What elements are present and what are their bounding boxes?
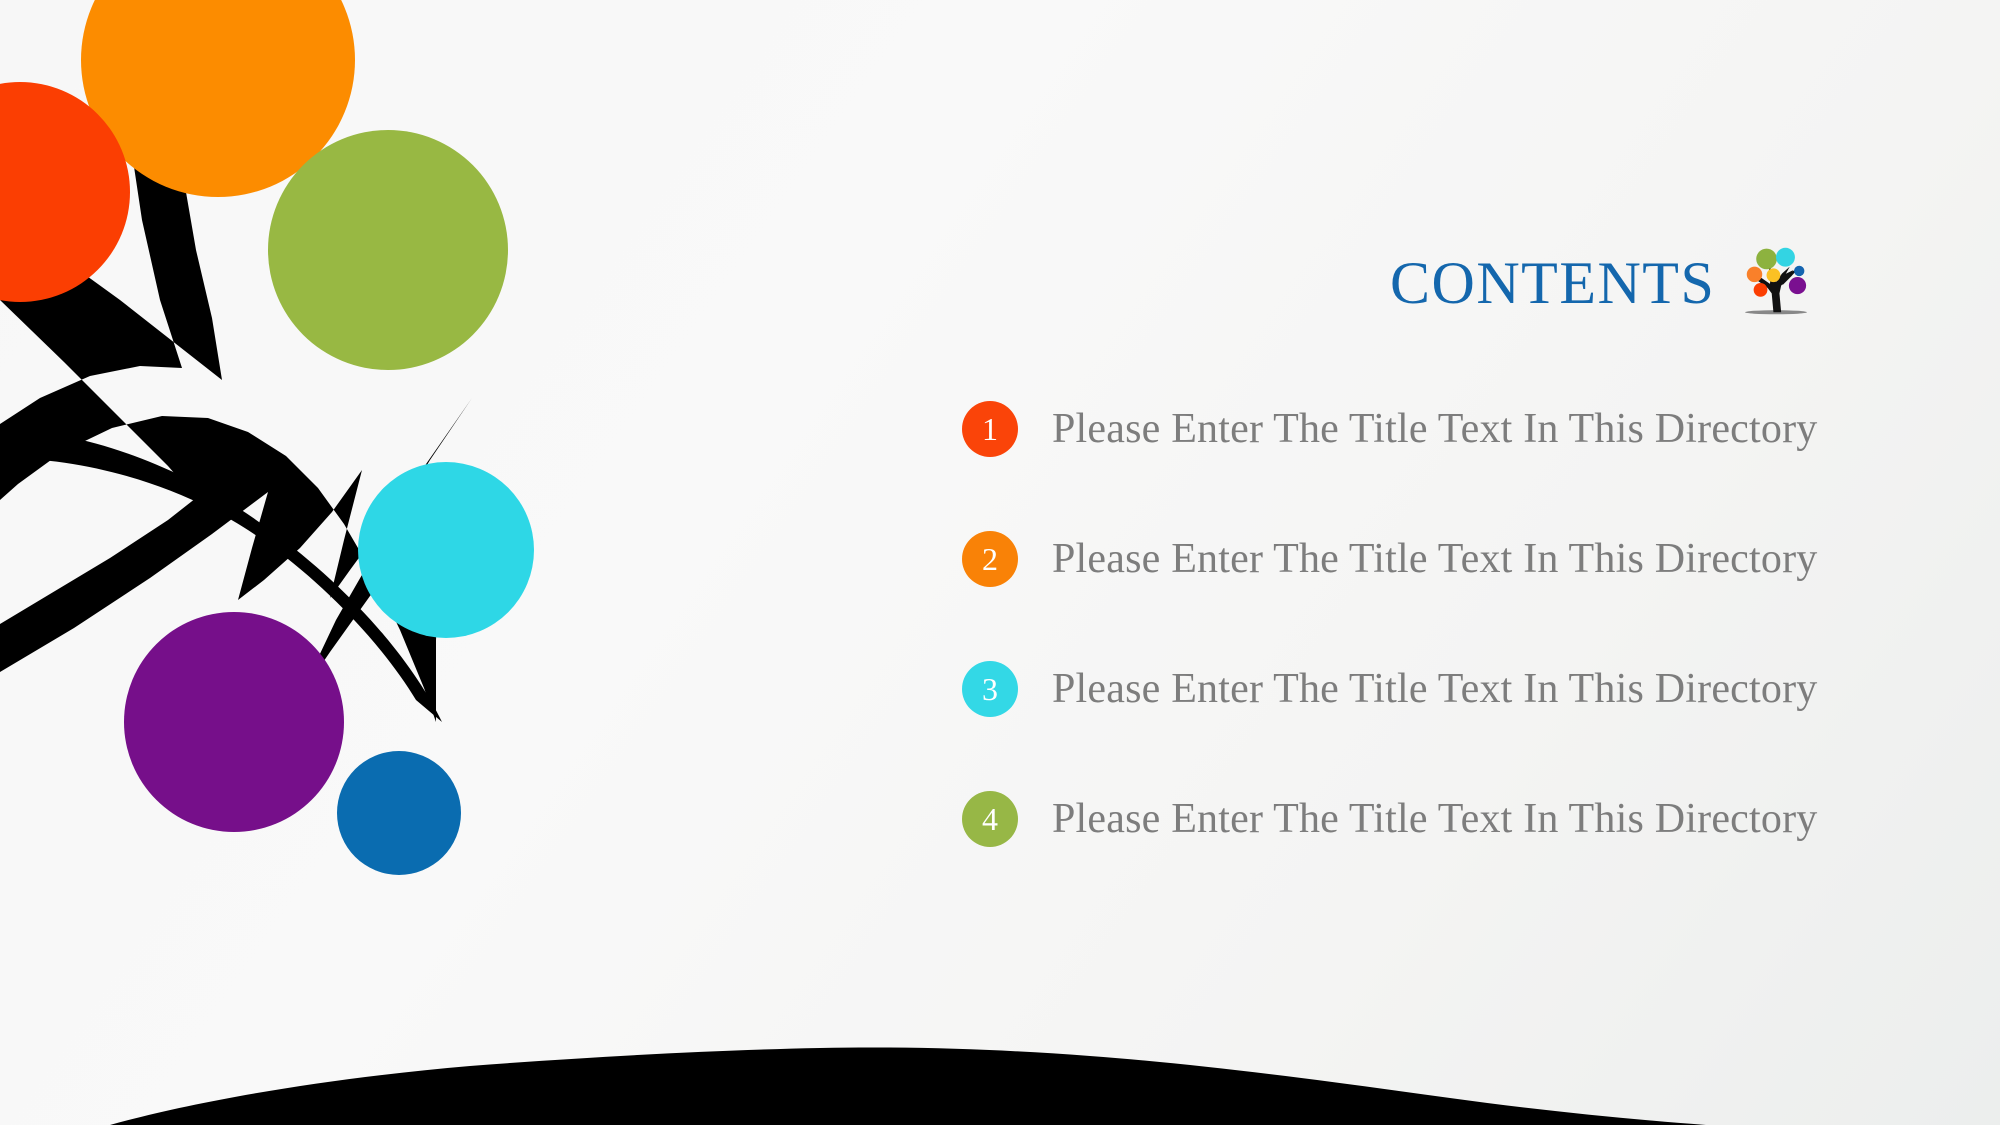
logo-cyan-circle <box>1776 248 1795 267</box>
red-orange-circle <box>0 82 130 302</box>
tree-logo <box>1733 240 1819 326</box>
logo-red-circle <box>1754 283 1768 297</box>
green-circle <box>268 130 508 370</box>
tree-branch-lower <box>0 430 442 722</box>
list-item-number-badge: 2 <box>962 531 1018 587</box>
list-item-number-badge: 3 <box>962 661 1018 717</box>
list-item-label: Please Enter The Title Text In This Dire… <box>1052 405 1817 453</box>
logo-green-circle <box>1757 249 1778 270</box>
contents-list: 1 Please Enter The Title Text In This Di… <box>962 378 1862 898</box>
tree-silhouette <box>0 84 472 722</box>
list-item-number: 2 <box>982 543 998 575</box>
logo-orange-circle <box>1747 267 1762 282</box>
list-item-number: 4 <box>982 803 998 835</box>
list-item[interactable]: 3 Please Enter The Title Text In This Di… <box>962 638 1862 740</box>
list-item-number: 1 <box>982 413 998 445</box>
page-title: CONTENTS <box>1390 253 1715 313</box>
list-item-number-badge: 1 <box>962 401 1018 457</box>
purple-circle <box>124 612 344 832</box>
list-item-number-badge: 4 <box>962 791 1018 847</box>
blue-circle <box>337 751 461 875</box>
contents-slide: CONTENTS 1 Please Enter The Title Text I… <box>0 0 2000 1125</box>
list-item[interactable]: 4 Please Enter The Title Text In This Di… <box>962 768 1862 870</box>
list-item[interactable]: 1 Please Enter The Title Text In This Di… <box>962 378 1862 480</box>
logo-purple-circle <box>1789 277 1806 294</box>
list-item[interactable]: 2 Please Enter The Title Text In This Di… <box>962 508 1862 610</box>
logo-blue-circle <box>1794 266 1804 276</box>
list-item-number: 3 <box>982 673 998 705</box>
ground-silhouette <box>110 1047 2000 1125</box>
list-item-label: Please Enter The Title Text In This Dire… <box>1052 795 1817 843</box>
list-item-label: Please Enter The Title Text In This Dire… <box>1052 665 1817 713</box>
orange-circle <box>81 0 355 197</box>
list-item-label: Please Enter The Title Text In This Dire… <box>1052 535 1817 583</box>
cyan-circle <box>358 462 534 638</box>
logo-yellow-circle <box>1767 268 1781 282</box>
slide-header: CONTENTS <box>1390 240 1819 326</box>
